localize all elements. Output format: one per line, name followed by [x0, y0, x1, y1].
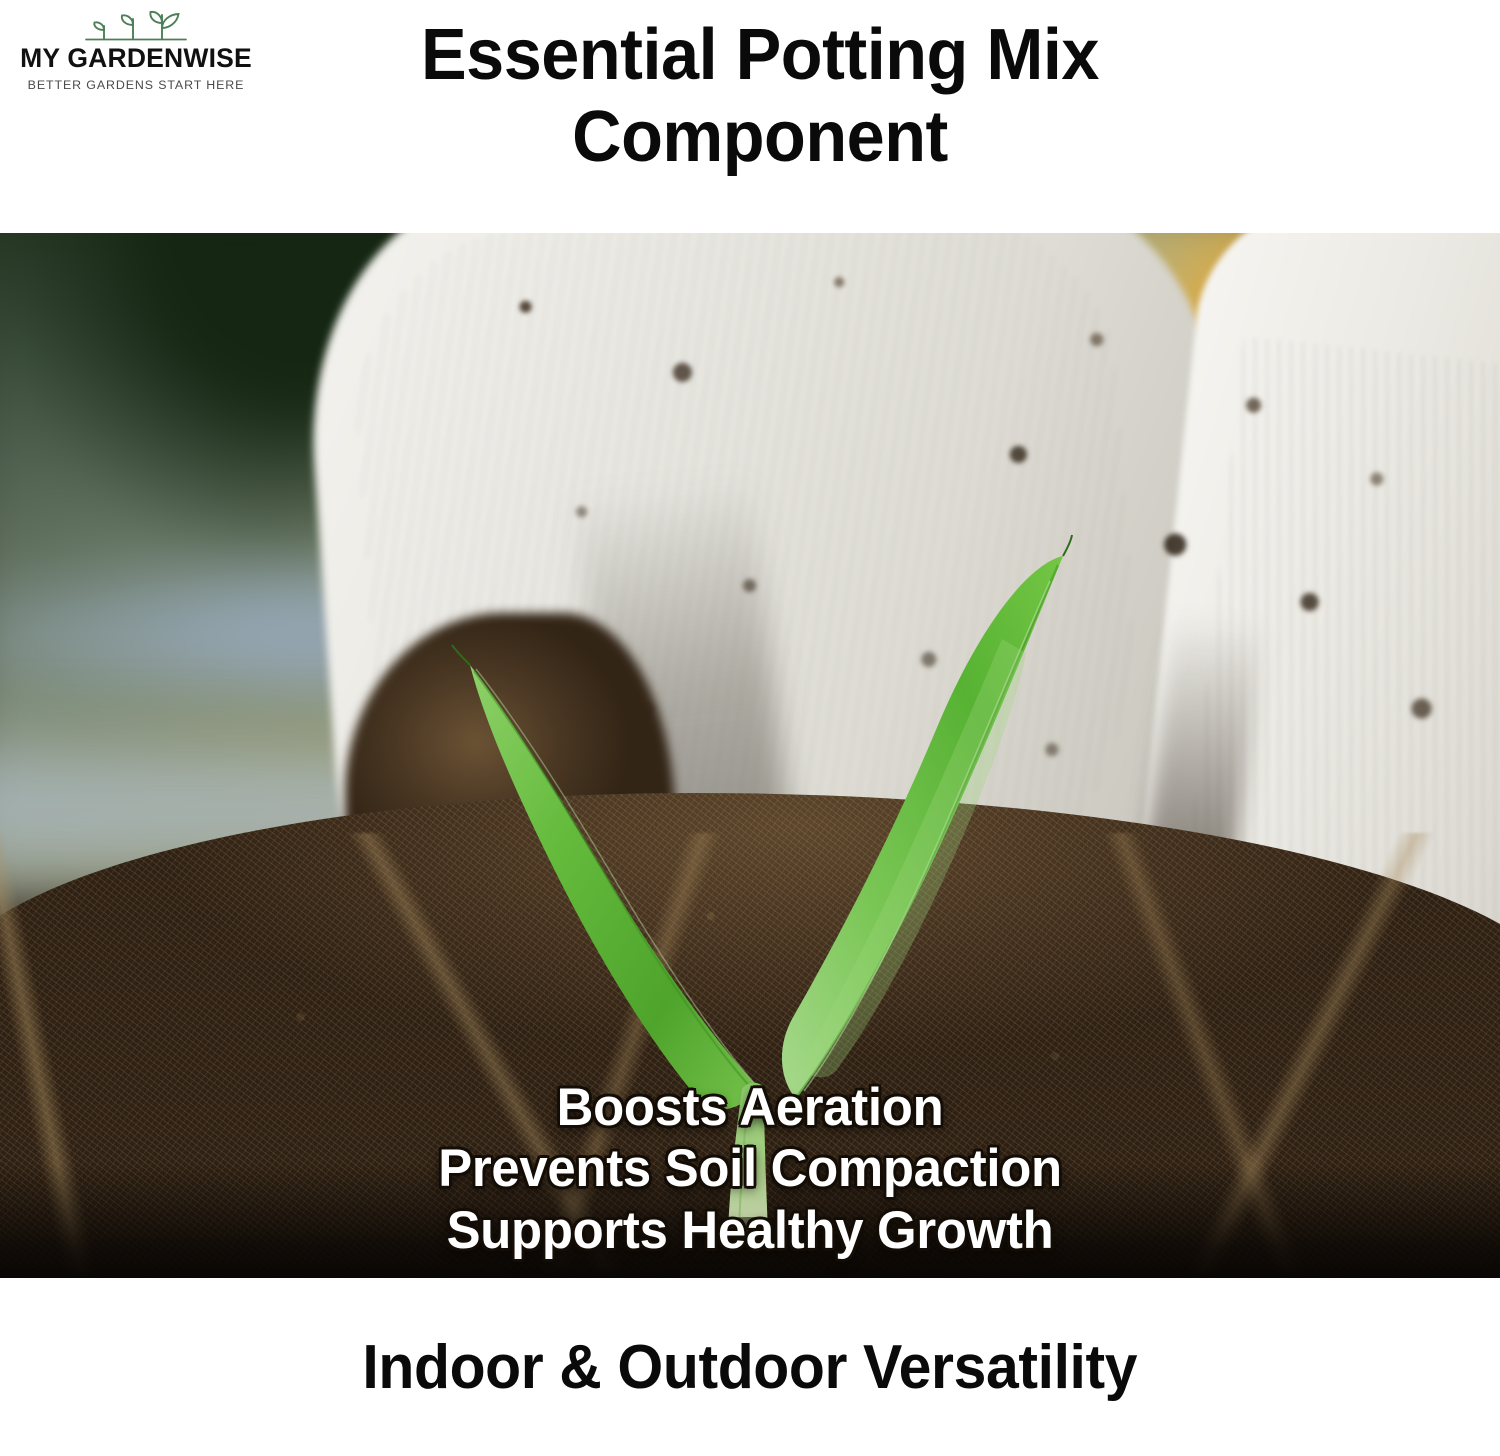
header-bar: MY GARDENWISE BETTER GARDENS START HERE …	[0, 0, 1500, 233]
hero-photo: Boosts Aeration Prevents Soil Compaction…	[0, 233, 1500, 1278]
seedling-leaf-left	[470, 665, 760, 1110]
brand-tagline: BETTER GARDENS START HERE	[12, 79, 260, 91]
page-title: Essential Potting Mix Component	[295, 14, 1226, 178]
brand-logo[interactable]: MY GARDENWISE BETTER GARDENS START HERE	[12, 6, 260, 84]
benefit-line-1: Boosts Aeration	[30, 1077, 1470, 1138]
brand-name: MY GARDENWISE	[12, 45, 260, 72]
page-title-line-1: Essential Potting Mix	[295, 14, 1226, 96]
benefit-line-3: Supports Healthy Growth	[30, 1200, 1470, 1261]
three-sprouts-icon	[78, 6, 194, 44]
benefits-overlay: Boosts Aeration Prevents Soil Compaction…	[30, 1077, 1470, 1261]
product-infographic: MY GARDENWISE BETTER GARDENS START HERE …	[0, 0, 1500, 1456]
footer-headline: Indoor & Outdoor Versatility	[363, 1332, 1138, 1403]
page-title-line-2: Component	[295, 96, 1226, 178]
benefit-line-2: Prevents Soil Compaction	[30, 1138, 1470, 1199]
footer-bar: Indoor & Outdoor Versatility	[0, 1278, 1500, 1456]
